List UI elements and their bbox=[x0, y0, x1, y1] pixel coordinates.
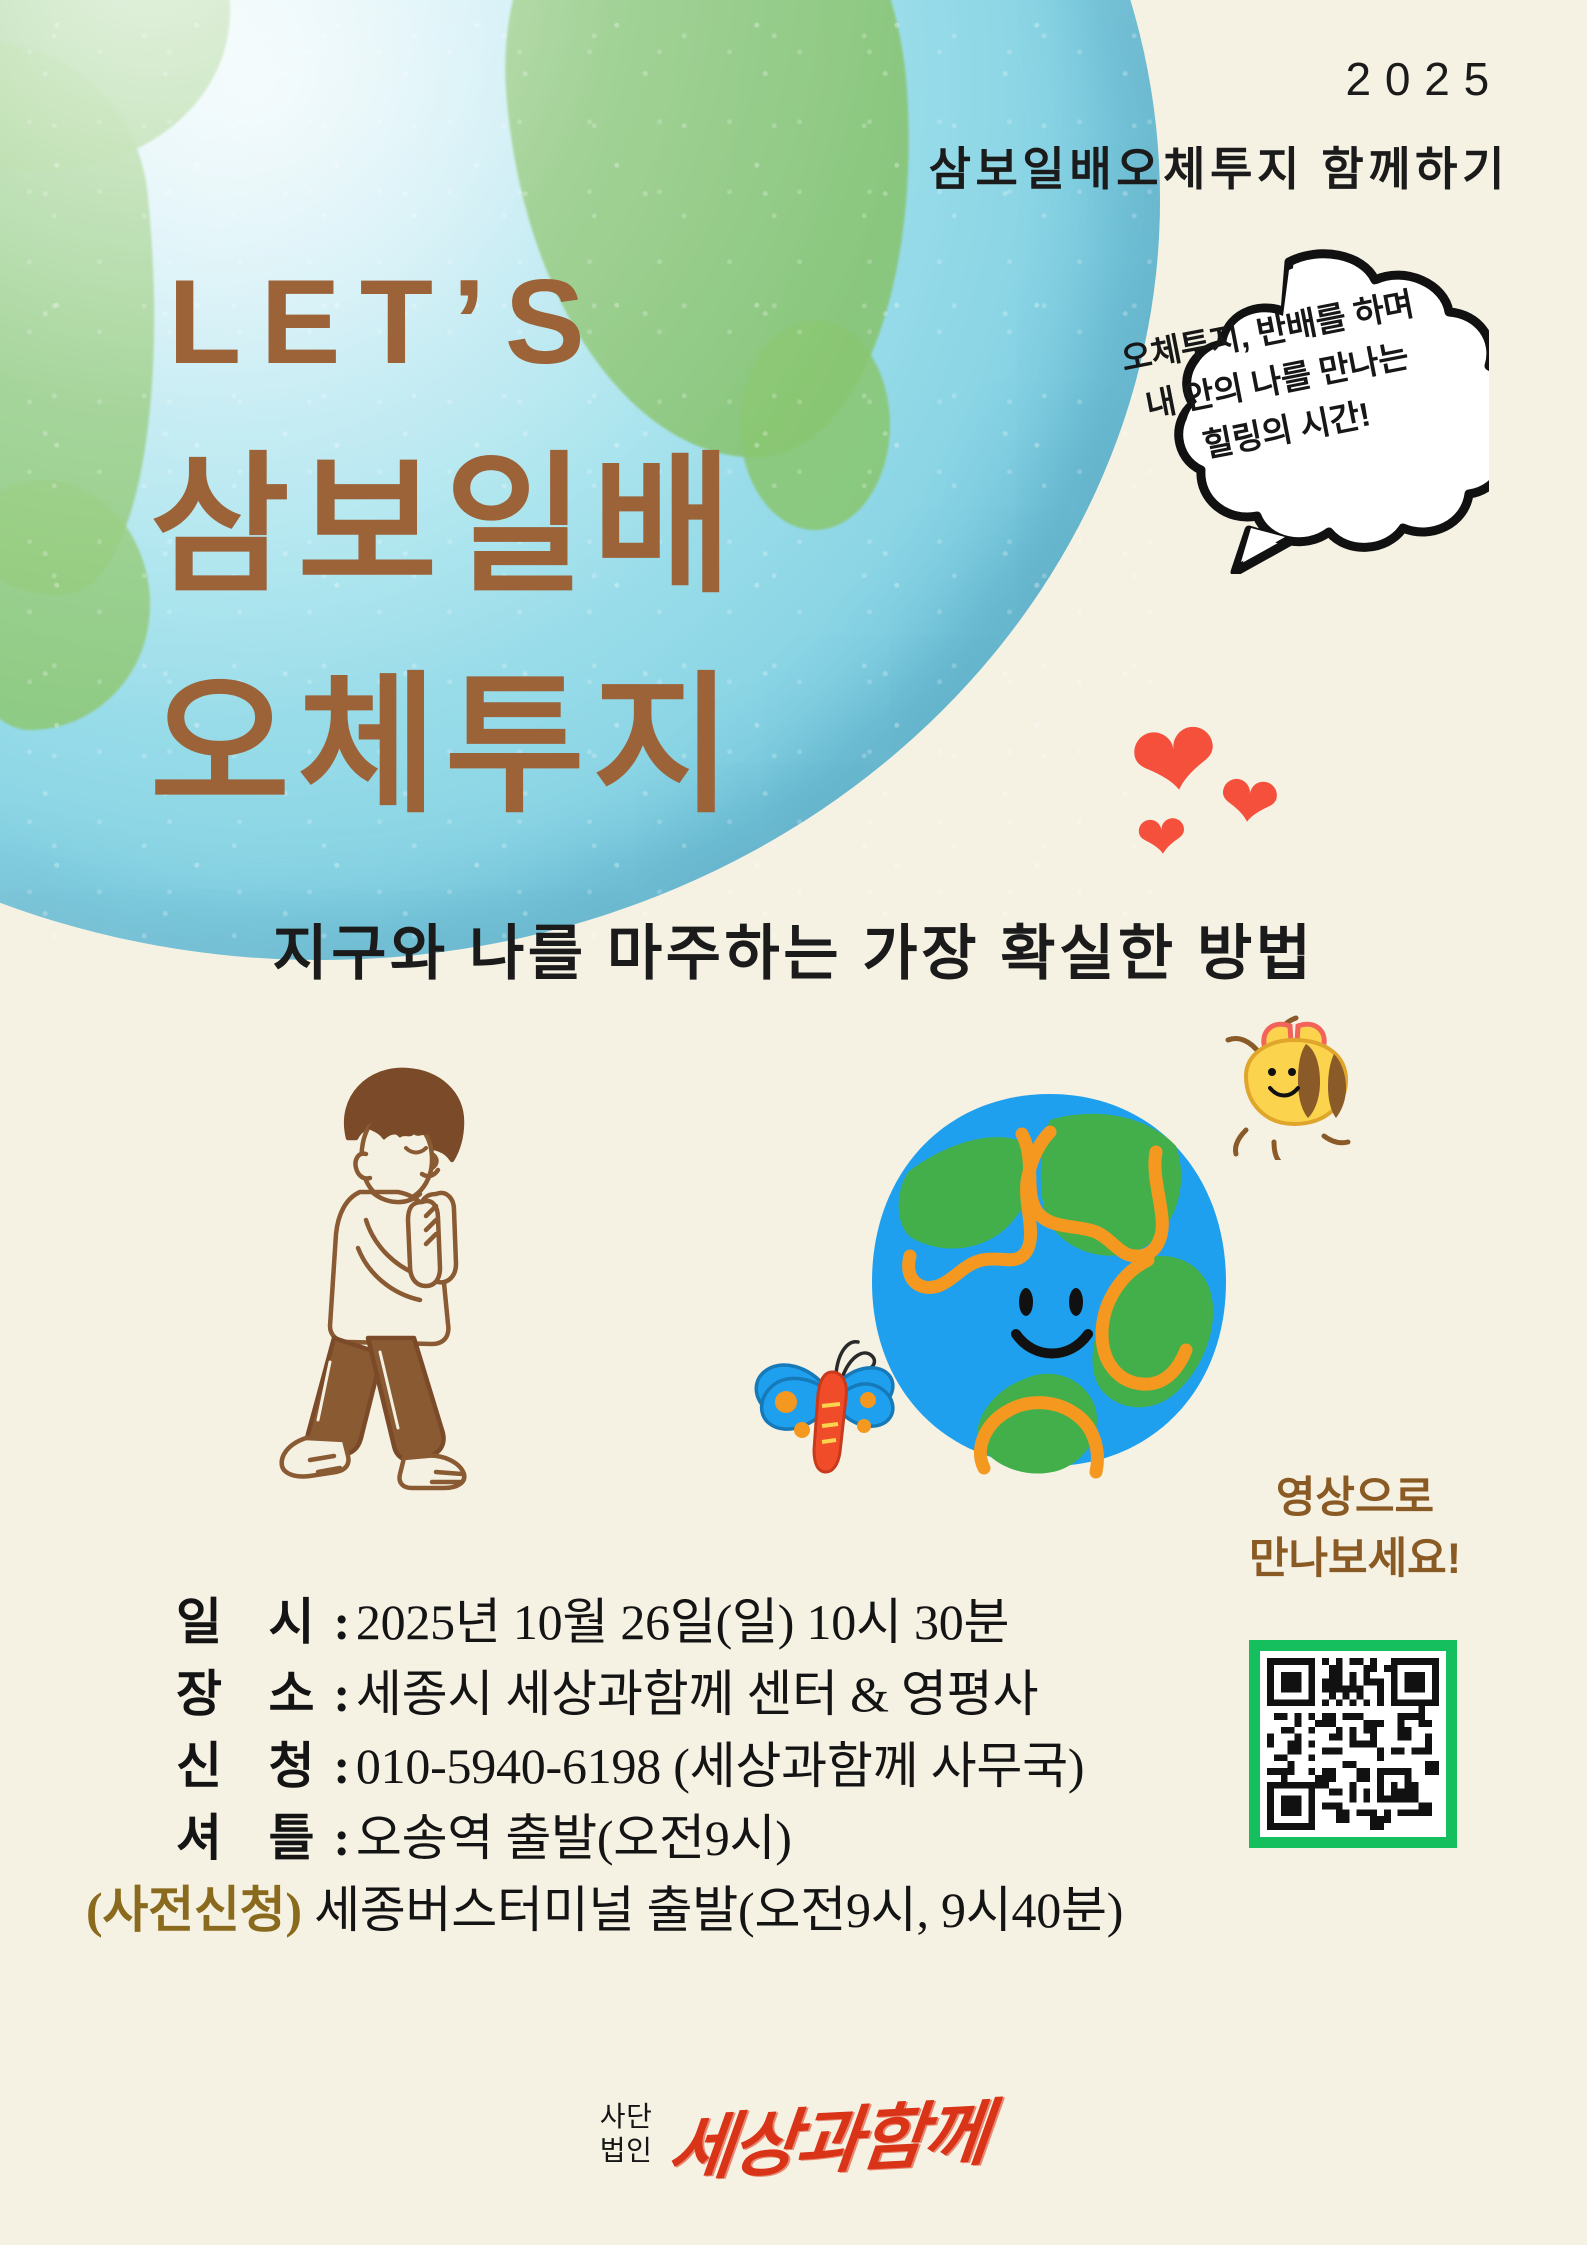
detail-row-datetime: 일 시:2025년 10월 26일(일) 10시 30분 bbox=[0, 1586, 1587, 1658]
detail-value: 오송역 출발(오전9시) bbox=[356, 1810, 792, 1866]
detail-label: 일 시 bbox=[176, 1594, 332, 1650]
org-type-line-2: 법인 bbox=[600, 2135, 653, 2168]
detail-label: 셔 틀 bbox=[176, 1810, 332, 1866]
detail-separator: : bbox=[332, 1666, 356, 1722]
detail-label: 장 소 bbox=[176, 1666, 332, 1722]
org-type-label: 사단 법인 bbox=[600, 2101, 653, 2167]
illustration-band bbox=[0, 1020, 1587, 1540]
page-title-ko-line2: 오체투지 bbox=[150, 670, 740, 822]
detail-row-registration: 신 청:010-5940-6198 (세상과함께 사무국) bbox=[0, 1730, 1587, 1802]
tagline: 지구와 나를 마주하는 가장 확실한 방법 bbox=[0, 905, 1587, 992]
detail-value: 010-5940-6198 (세상과함께 사무국) bbox=[356, 1738, 1084, 1794]
crayon-bee-illustration bbox=[1212, 1010, 1362, 1160]
detail-separator: : bbox=[332, 1810, 356, 1866]
detail-label: 신 청 bbox=[176, 1738, 332, 1794]
detail-value: 세종시 세상과함께 센터 & 영평사 bbox=[356, 1666, 1038, 1722]
organization-logo: 사단 법인 세상과함께 bbox=[0, 2082, 1587, 2187]
heart-icon: ❤ bbox=[1214, 763, 1283, 843]
qr-caption-line-1: 영상으로 bbox=[1195, 1468, 1515, 1529]
page-title-ko-line1: 삼보일배 bbox=[150, 450, 740, 602]
detail-value: 세종버스터미널 출발(오전9시, 9시40분) bbox=[314, 1882, 1123, 1938]
org-type-line-1: 사단 bbox=[600, 2101, 653, 2134]
detail-separator: : bbox=[332, 1738, 356, 1794]
crayon-hearts-illustration: ❤ ❤ ❤ bbox=[1108, 708, 1308, 898]
speech-bubble: 오체투지, 반배를 하며 내 안의 나를 만나는 힐링의 시간! bbox=[1053, 244, 1489, 574]
qr-caption-line-2: 만나보세요! bbox=[1195, 1529, 1515, 1590]
year-label: 2025 bbox=[1345, 52, 1503, 106]
detail-row-prebooking: (사전신청) 세종버스터미널 출발(오전9시, 9시40분) bbox=[0, 1874, 1587, 1946]
page-title-en: LET’S bbox=[168, 262, 604, 382]
crayon-butterfly-illustration bbox=[742, 1330, 912, 1480]
eyebrow-label: 삼보일배오체투지 함께하기 bbox=[0, 133, 1509, 199]
detail-separator: : bbox=[332, 1594, 356, 1650]
detail-row-shuttle: 셔 틀:오송역 출발(오전9시) bbox=[0, 1802, 1587, 1874]
qr-caption: 영상으로 만나보세요! bbox=[1195, 1468, 1515, 1590]
detail-row-location: 장 소:세종시 세상과함께 센터 & 영평사 bbox=[0, 1658, 1587, 1730]
detail-value: 2025년 10월 26일(일) 10시 30분 bbox=[356, 1594, 1009, 1650]
event-details: 일 시:2025년 10월 26일(일) 10시 30분 장 소:세종시 세상과… bbox=[0, 1586, 1587, 1946]
org-brand-wordmark: 세상과함께 bbox=[664, 2074, 994, 2195]
praying-walking-boy-illustration bbox=[240, 1042, 570, 1502]
heart-icon: ❤ bbox=[1134, 806, 1190, 871]
poster-canvas: 2025 삼보일배오체투지 함께하기 LET’S 삼보일배 오체투지 지구와 나… bbox=[0, 0, 1587, 2245]
prebooking-tag: (사전신청) bbox=[86, 1882, 302, 1938]
